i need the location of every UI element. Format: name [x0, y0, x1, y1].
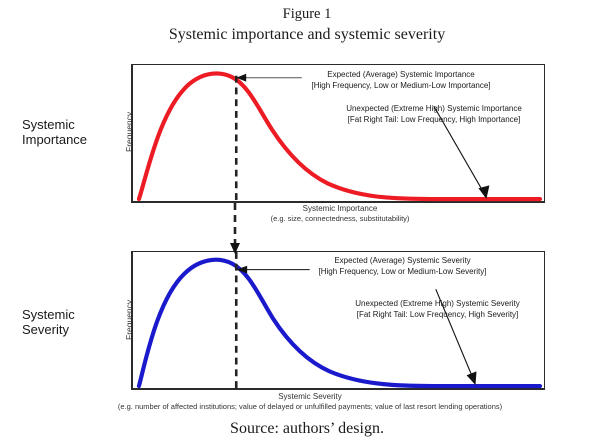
- annotation-unexpected-severity: Unexpected (Extreme High) Systemic Sever…: [335, 299, 540, 320]
- annotation-expected-importance: Expected (Average) Systemic Importance […: [295, 70, 507, 91]
- annotation-unexpected-importance: Unexpected (Extreme High) Systemic Impor…: [328, 104, 540, 125]
- x-axis-title: Systemic Severity: [60, 392, 560, 402]
- annotation-line1: Expected (Average) Systemic Severity: [300, 256, 505, 267]
- x-axis-caption-severity: Systemic Severity (e.g. number of affect…: [60, 392, 560, 412]
- x-axis-title: Systemic Importance: [180, 204, 500, 214]
- annotation-line1: Unexpected (Extreme High) Systemic Impor…: [328, 104, 540, 115]
- x-axis-subtitle: (e.g. number of affected institutions; v…: [60, 402, 560, 412]
- row-label-line1: Systemic: [22, 307, 126, 322]
- source-note: Source: authors’ design.: [0, 420, 614, 438]
- row-label-line2: Importance: [22, 132, 126, 147]
- annotation-line1: Unexpected (Extreme High) Systemic Sever…: [335, 299, 540, 310]
- annotation-line2: [High Frequency, Low or Medium-Low Sever…: [300, 267, 505, 278]
- figure-page: Figure 1 Systemic importance and systemi…: [0, 0, 614, 447]
- figure-caption: Systemic importance and systemic severit…: [0, 26, 614, 44]
- row-label-line2: Severity: [22, 322, 126, 337]
- annotation-line2: [Fat Right Tail: Low Frequency, High Imp…: [328, 115, 540, 126]
- row-label-systemic-importance: Systemic Importance: [22, 117, 126, 147]
- x-axis-caption-importance: Systemic Importance (e.g. size, connecte…: [180, 204, 500, 224]
- annotation-line2: [Fat Right Tail: Low Frequency, High Sev…: [335, 310, 540, 321]
- figure-number: Figure 1: [0, 6, 614, 23]
- annotation-line2: [High Frequency, Low or Medium-Low Impor…: [295, 81, 507, 92]
- row-label-line1: Systemic: [22, 117, 126, 132]
- annotation-expected-severity: Expected (Average) Systemic Severity [Hi…: [300, 256, 505, 277]
- x-axis-subtitle: (e.g. size, connectedness, substitutabil…: [180, 214, 500, 224]
- expected-annotation-arrow-top: [236, 74, 302, 82]
- expected-annotation-arrow-bottom: [236, 266, 309, 274]
- severity-distribution-curve: [139, 260, 540, 386]
- annotation-line1: Expected (Average) Systemic Importance: [295, 70, 507, 81]
- row-label-systemic-severity: Systemic Severity: [22, 307, 126, 337]
- importance-distribution-curve: [139, 73, 540, 199]
